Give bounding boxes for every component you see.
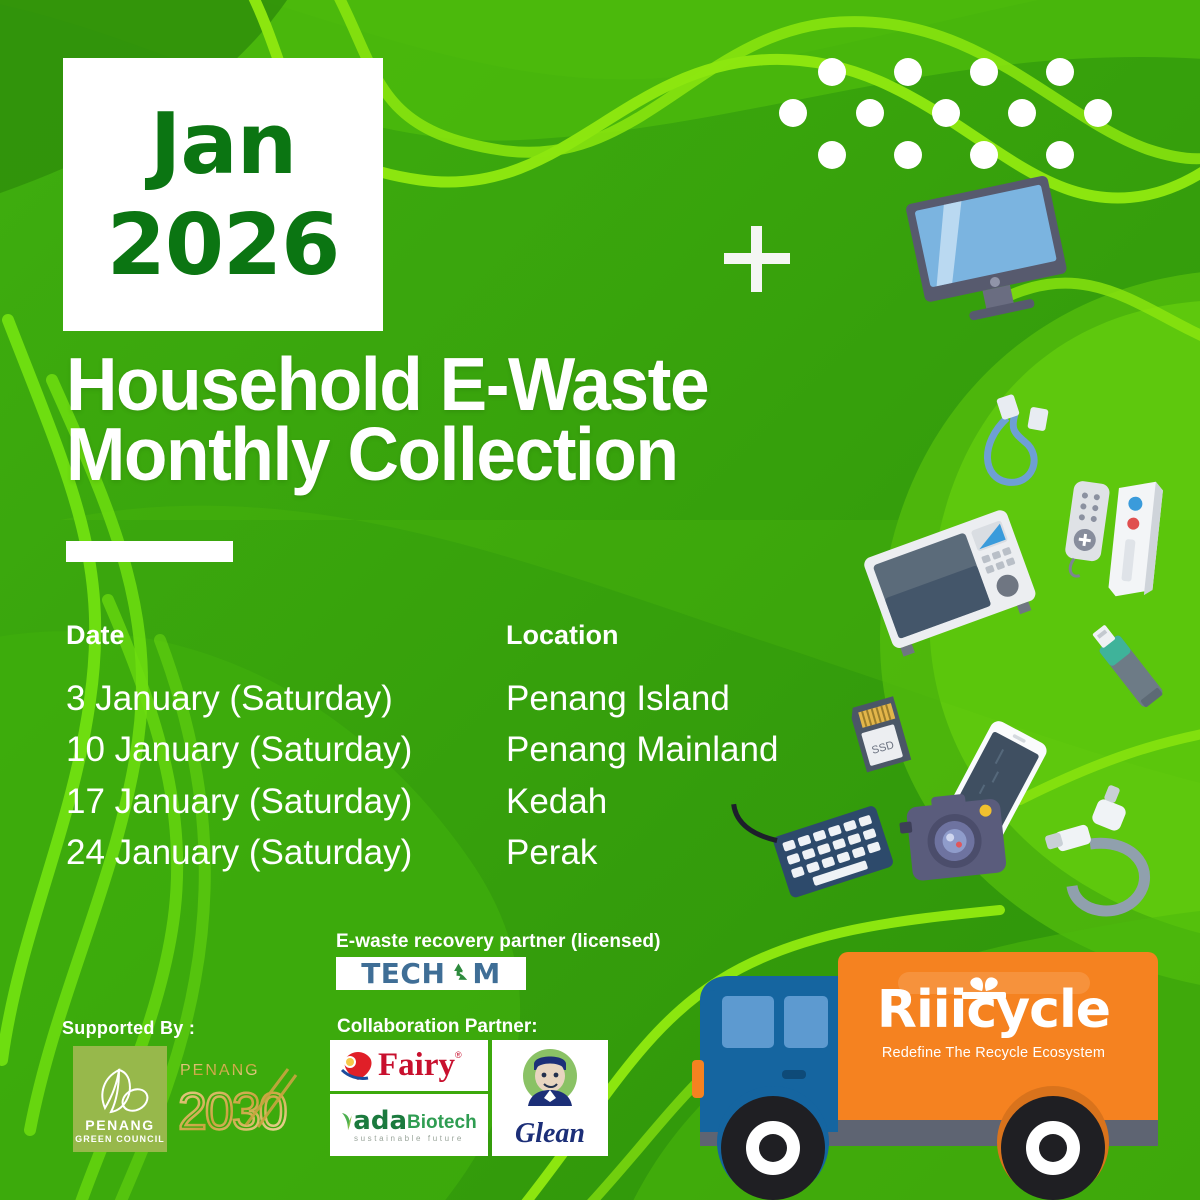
table-row: 24 January (Saturday) Perak xyxy=(66,827,846,878)
techom-logo: TECH M xyxy=(336,957,526,990)
table-row: 3 January (Saturday) Penang Island xyxy=(66,673,846,724)
title-divider xyxy=(66,541,233,562)
supported-by-label: Supported By : xyxy=(62,1018,195,1039)
ada-biotech-logo: ada Biotech sustainable future xyxy=(330,1094,488,1156)
cell-date: 10 January (Saturday) xyxy=(66,724,506,775)
techom-text-part2: M xyxy=(472,960,500,988)
glean-text: Glean xyxy=(515,1118,585,1150)
penang-2030-logo: PENANG 2030 xyxy=(176,1055,302,1140)
month-year-badge: Jan 2026 xyxy=(63,58,383,331)
cell-date: 17 January (Saturday) xyxy=(66,776,506,827)
pgc-line-1: PENANG xyxy=(85,1118,155,1133)
fairy-logo: Fairy ® xyxy=(330,1040,488,1091)
riiicycle-name: Riiicycle xyxy=(876,984,1111,1036)
table-row: 17 January (Saturday) Kedah xyxy=(66,776,846,827)
title-line-1: Household E-Waste xyxy=(66,350,855,420)
table-row: 10 January (Saturday) Penang Mainland xyxy=(66,724,846,775)
glean-mascot-icon xyxy=(508,1046,592,1118)
schedule-table: Date Location 3 January (Saturday) Penan… xyxy=(66,620,846,879)
page-title: Household E-Waste Monthly Collection xyxy=(66,350,896,490)
ada-tagline: sustainable future xyxy=(354,1134,464,1143)
fairy-registered-icon: ® xyxy=(455,1050,462,1060)
title-line-2: Monthly Collection xyxy=(66,420,855,490)
cell-date: 3 January (Saturday) xyxy=(66,673,506,724)
header-location: Location xyxy=(506,620,836,651)
recovery-partner-label: E-waste recovery partner (licensed) xyxy=(336,931,661,953)
badge-year: 2026 xyxy=(107,203,340,288)
header-date: Date xyxy=(66,620,506,651)
recycle-icon xyxy=(446,961,471,986)
riiicycle-brand: Riiicycle Redefine The Recycle Ecosystem xyxy=(876,984,1111,1061)
ada-text: ada xyxy=(353,1108,407,1134)
techom-text-part1: TECH xyxy=(361,960,445,988)
table-header-row: Date Location xyxy=(66,620,846,651)
glean-logo: Glean xyxy=(492,1040,608,1156)
cell-location: Perak xyxy=(506,827,836,878)
riiicycle-tagline: Redefine The Recycle Ecosystem xyxy=(876,1045,1111,1061)
pgc-line-2: GREEN COUNCIL xyxy=(75,1133,165,1146)
ada-biotech-text: Biotech xyxy=(407,1112,477,1134)
cell-location: Kedah xyxy=(506,776,836,827)
cell-location: Penang Mainland xyxy=(506,724,836,775)
poster: SSD xyxy=(0,0,1200,1200)
badge-month: Jan xyxy=(150,102,297,187)
penang-green-council-logo: PENANG GREEN COUNCIL xyxy=(73,1046,167,1152)
fairy-mascot-icon xyxy=(338,1048,378,1084)
collaboration-partner-label: Collaboration Partner: xyxy=(337,1016,538,1038)
fairy-text: Fairy xyxy=(378,1049,455,1082)
leaf-icon xyxy=(89,1068,151,1118)
cell-date: 24 January (Saturday) xyxy=(66,827,506,878)
cell-location: Penang Island xyxy=(506,673,836,724)
